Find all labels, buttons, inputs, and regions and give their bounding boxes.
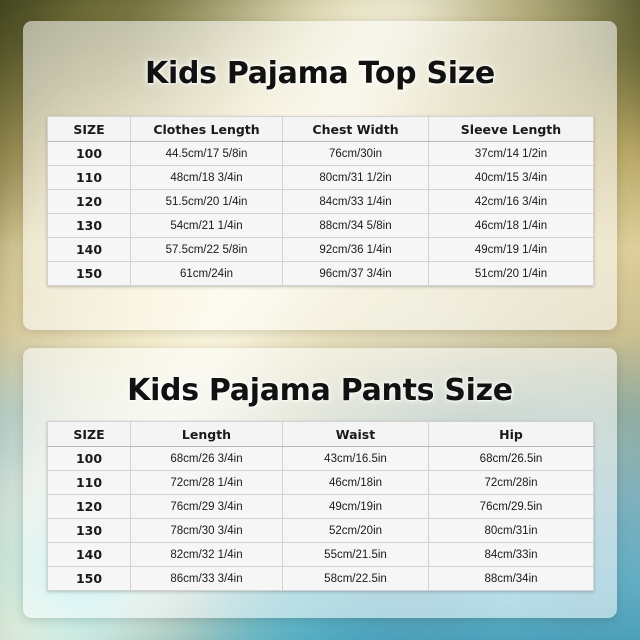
cell-value: 68cm/26.5in — [429, 447, 594, 471]
cell-value: 61cm/24in — [131, 262, 283, 286]
column-header-2: Chest Width — [283, 117, 429, 142]
cell-value: 80cm/31 1/2in — [283, 166, 429, 190]
pajama-top-title: Kids Pajama Top Size — [0, 56, 640, 91]
cell-size: 100 — [48, 447, 131, 471]
table-header-row: SIZE Length Waist Hip — [48, 422, 594, 447]
cell-value: 80cm/31in — [429, 519, 594, 543]
cell-value: 55cm/21.5in — [283, 543, 429, 567]
cell-value: 88cm/34 5/8in — [283, 214, 429, 238]
cell-value: 58cm/22.5in — [283, 567, 429, 591]
column-header-size: SIZE — [48, 422, 131, 447]
column-header-3: Hip — [429, 422, 594, 447]
cell-size: 120 — [48, 190, 131, 214]
table-row: 130 78cm/30 3/4in 52cm/20in 80cm/31in — [48, 519, 594, 543]
cell-size: 110 — [48, 471, 131, 495]
table-row: 140 57.5cm/22 5/8in 92cm/36 1/4in 49cm/1… — [48, 238, 594, 262]
cell-value: 49cm/19in — [283, 495, 429, 519]
cell-value: 76cm/29.5in — [429, 495, 594, 519]
pajama-pants-size-table: SIZE Length Waist Hip 100 68cm/26 3/4in … — [47, 421, 594, 591]
cell-value: 46cm/18in — [283, 471, 429, 495]
pajama-top-size-table: SIZE Clothes Length Chest Width Sleeve L… — [47, 116, 594, 286]
cell-size: 150 — [48, 567, 131, 591]
cell-value: 82cm/32 1/4in — [131, 543, 283, 567]
cell-value: 88cm/34in — [429, 567, 594, 591]
cell-value: 42cm/16 3/4in — [429, 190, 594, 214]
cell-value: 86cm/33 3/4in — [131, 567, 283, 591]
cell-value: 43cm/16.5in — [283, 447, 429, 471]
column-header-size: SIZE — [48, 117, 131, 142]
table-row: 130 54cm/21 1/4in 88cm/34 5/8in 46cm/18 … — [48, 214, 594, 238]
cell-size: 150 — [48, 262, 131, 286]
cell-size: 120 — [48, 495, 131, 519]
table-row: 110 72cm/28 1/4in 46cm/18in 72cm/28in — [48, 471, 594, 495]
cell-value: 51.5cm/20 1/4in — [131, 190, 283, 214]
cell-value: 52cm/20in — [283, 519, 429, 543]
cell-value: 78cm/30 3/4in — [131, 519, 283, 543]
table-header-row: SIZE Clothes Length Chest Width Sleeve L… — [48, 117, 594, 142]
column-header-1: Length — [131, 422, 283, 447]
cell-size: 130 — [48, 519, 131, 543]
cell-value: 46cm/18 1/4in — [429, 214, 594, 238]
column-header-3: Sleeve Length — [429, 117, 594, 142]
table-row: 100 44.5cm/17 5/8in 76cm/30in 37cm/14 1/… — [48, 142, 594, 166]
cell-size: 130 — [48, 214, 131, 238]
column-header-1: Clothes Length — [131, 117, 283, 142]
cell-size: 140 — [48, 543, 131, 567]
table-row: 100 68cm/26 3/4in 43cm/16.5in 68cm/26.5i… — [48, 447, 594, 471]
cell-value: 72cm/28in — [429, 471, 594, 495]
cell-value: 51cm/20 1/4in — [429, 262, 594, 286]
cell-value: 96cm/37 3/4in — [283, 262, 429, 286]
cell-size: 110 — [48, 166, 131, 190]
cell-value: 49cm/19 1/4in — [429, 238, 594, 262]
table-row: 120 76cm/29 3/4in 49cm/19in 76cm/29.5in — [48, 495, 594, 519]
cell-value: 57.5cm/22 5/8in — [131, 238, 283, 262]
table-row: 140 82cm/32 1/4in 55cm/21.5in 84cm/33in — [48, 543, 594, 567]
cell-value: 92cm/36 1/4in — [283, 238, 429, 262]
column-header-2: Waist — [283, 422, 429, 447]
cell-value: 44.5cm/17 5/8in — [131, 142, 283, 166]
cell-value: 72cm/28 1/4in — [131, 471, 283, 495]
cell-value: 76cm/30in — [283, 142, 429, 166]
pajama-pants-title: Kids Pajama Pants Size — [0, 373, 640, 408]
table-row: 110 48cm/18 3/4in 80cm/31 1/2in 40cm/15 … — [48, 166, 594, 190]
cell-size: 140 — [48, 238, 131, 262]
cell-value: 84cm/33 1/4in — [283, 190, 429, 214]
cell-value: 37cm/14 1/2in — [429, 142, 594, 166]
cell-value: 54cm/21 1/4in — [131, 214, 283, 238]
cell-value: 76cm/29 3/4in — [131, 495, 283, 519]
cell-value: 68cm/26 3/4in — [131, 447, 283, 471]
cell-size: 100 — [48, 142, 131, 166]
table-row: 150 86cm/33 3/4in 58cm/22.5in 88cm/34in — [48, 567, 594, 591]
cell-value: 40cm/15 3/4in — [429, 166, 594, 190]
table-row: 150 61cm/24in 96cm/37 3/4in 51cm/20 1/4i… — [48, 262, 594, 286]
table-row: 120 51.5cm/20 1/4in 84cm/33 1/4in 42cm/1… — [48, 190, 594, 214]
cell-value: 48cm/18 3/4in — [131, 166, 283, 190]
cell-value: 84cm/33in — [429, 543, 594, 567]
